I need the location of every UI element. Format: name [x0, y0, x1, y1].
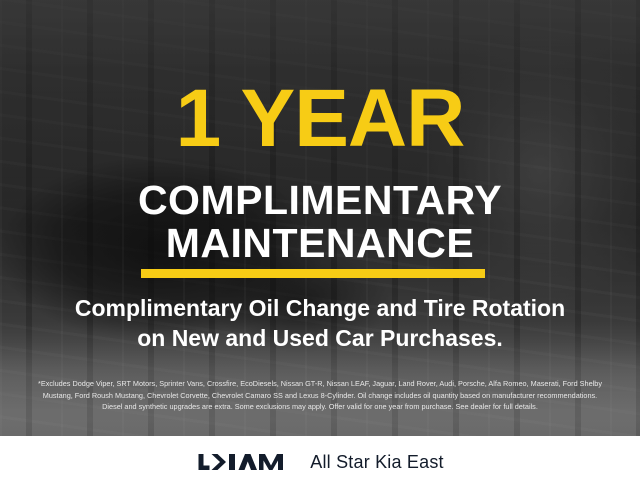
disclaimer-line-3: Diesel and synthetic upgrades are extra.… — [14, 401, 626, 413]
disclaimer-line-1: *Excludes Dodge Viper, SRT Motors, Sprin… — [14, 378, 626, 390]
headline-year: 1 YEAR — [0, 78, 640, 160]
disclaimer-text: *Excludes Dodge Viper, SRT Motors, Sprin… — [14, 378, 626, 413]
dealer-name: All Star Kia East — [310, 453, 443, 471]
offer-description-line-1: Complimentary Oil Change and Tire Rotati… — [0, 294, 640, 322]
headline-maintenance: MAINTENANCE — [0, 221, 640, 265]
banner-content: 1 YEAR COMPLIMENTARY MAINTENANCE Complim… — [0, 0, 640, 436]
footer-brand-group: All Star Kia East — [196, 449, 443, 475]
yellow-divider-bar — [141, 269, 485, 278]
headline-complimentary: COMPLIMENTARY — [0, 178, 640, 222]
promo-banner: 1 YEAR COMPLIMENTARY MAINTENANCE Complim… — [0, 0, 640, 488]
kia-logo — [196, 449, 288, 475]
footer-bar: All Star Kia East — [0, 436, 640, 488]
disclaimer-line-2: Mustang, Ford Roush Mustang, Chevrolet C… — [14, 390, 626, 402]
offer-description-line-2: on New and Used Car Purchases. — [0, 324, 640, 352]
